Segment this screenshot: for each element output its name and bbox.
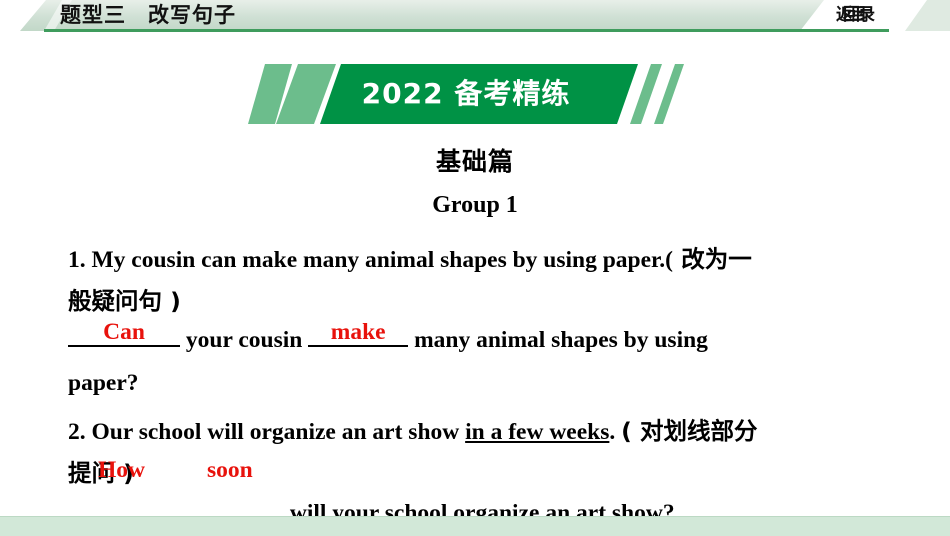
question-1-instruction-part-1: 改为一	[673, 245, 752, 273]
question-1-answer-1: Can	[68, 320, 180, 345]
exam-prep-banner: 2022 备考精练	[248, 64, 684, 124]
page-title: 题型三 改写句子	[60, 0, 236, 31]
question-1-sentence: My cousin can make many animal shapes by…	[92, 247, 674, 273]
question-2-sentence-part-1: Our school will organize an art show	[92, 419, 466, 445]
group-heading: Group 1	[0, 192, 950, 219]
return-to-contents-button[interactable]: 返回目录	[836, 1, 866, 29]
question-1-answer-tail-text: many animal shapes by using	[408, 327, 708, 353]
question-2-line-2: 提问 )	[68, 454, 948, 488]
question-1-line-1: 1. My cousin can make many animal shapes…	[68, 240, 948, 274]
question-2-number: 2.	[68, 419, 86, 445]
question-1-answer-line: Can your cousin make many animal shapes …	[68, 327, 948, 354]
banner-title: 2022 备考精练	[248, 64, 684, 124]
question-2-line-1: 2. Our school will organize an art show …	[68, 412, 948, 446]
question-1-answer-last-word: paper?	[68, 370, 139, 396]
question-1-line-2: 般疑问句 )	[68, 282, 948, 316]
return-label-part-a: 返回	[836, 5, 850, 25]
question-1-answer-line-2: paper?	[68, 370, 948, 397]
question-1-blank-2[interactable]: make	[308, 345, 408, 347]
section-heading: 基础篇	[0, 142, 950, 178]
question-1-answer-2: make	[308, 320, 408, 345]
question-1-number: 1.	[68, 247, 86, 273]
return-label-part-b: 目录	[850, 5, 866, 25]
question-2-underlined-phrase: in a few weeks	[465, 419, 609, 445]
question-2-answer-2: soon	[207, 457, 253, 484]
question-2-sentence-part-2: .	[609, 419, 621, 445]
question-2-instruction-part-1: ( 对划线部分	[621, 417, 757, 445]
question-1-blank-1[interactable]: Can	[68, 345, 180, 347]
question-1-answer-mid-text: your cousin	[180, 327, 308, 353]
question-1-instruction-part-2: 般疑问句 )	[68, 287, 181, 315]
bottom-bar	[0, 516, 950, 536]
question-2-answer-1: How	[98, 457, 145, 484]
